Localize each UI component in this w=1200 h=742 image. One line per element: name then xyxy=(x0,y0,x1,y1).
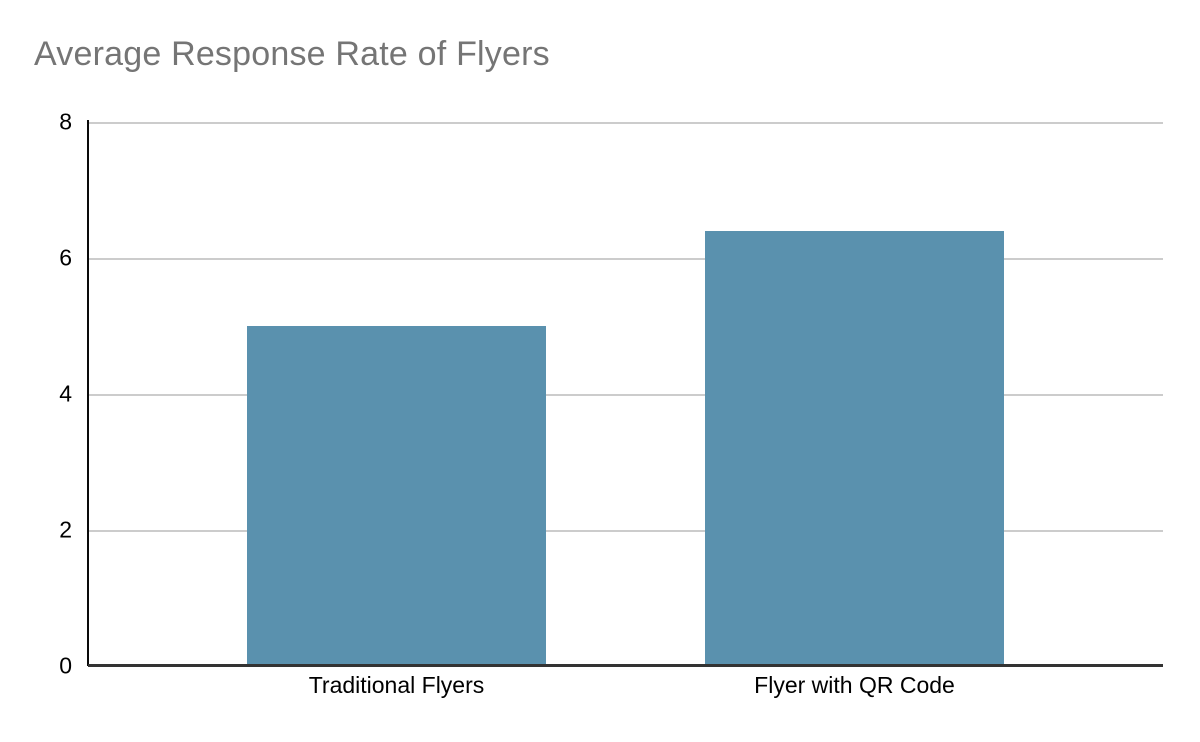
bar-chart: Average Response Rate of Flyers 8 6 4 2 … xyxy=(0,0,1200,742)
y-tick-label-0: 0 xyxy=(18,655,72,678)
y-tick-label-6: 6 xyxy=(18,247,72,270)
x-axis-line xyxy=(88,664,1163,667)
y-tick-label-2: 2 xyxy=(18,519,72,542)
x-axis-label-traditional-flyers: Traditional Flyers xyxy=(247,672,546,700)
y-tick-label-8: 8 xyxy=(18,111,72,134)
bar-traditional-flyers[interactable] xyxy=(247,326,546,666)
bar-flyer-with-qr-code[interactable] xyxy=(705,231,1004,666)
y-tick-label-4: 4 xyxy=(18,383,72,406)
y-axis-line xyxy=(87,120,89,666)
plot-area xyxy=(88,122,1163,666)
x-axis-label-flyer-with-qr-code: Flyer with QR Code xyxy=(705,672,1004,700)
gridline-8 xyxy=(88,122,1163,124)
chart-title: Average Response Rate of Flyers xyxy=(34,36,550,73)
